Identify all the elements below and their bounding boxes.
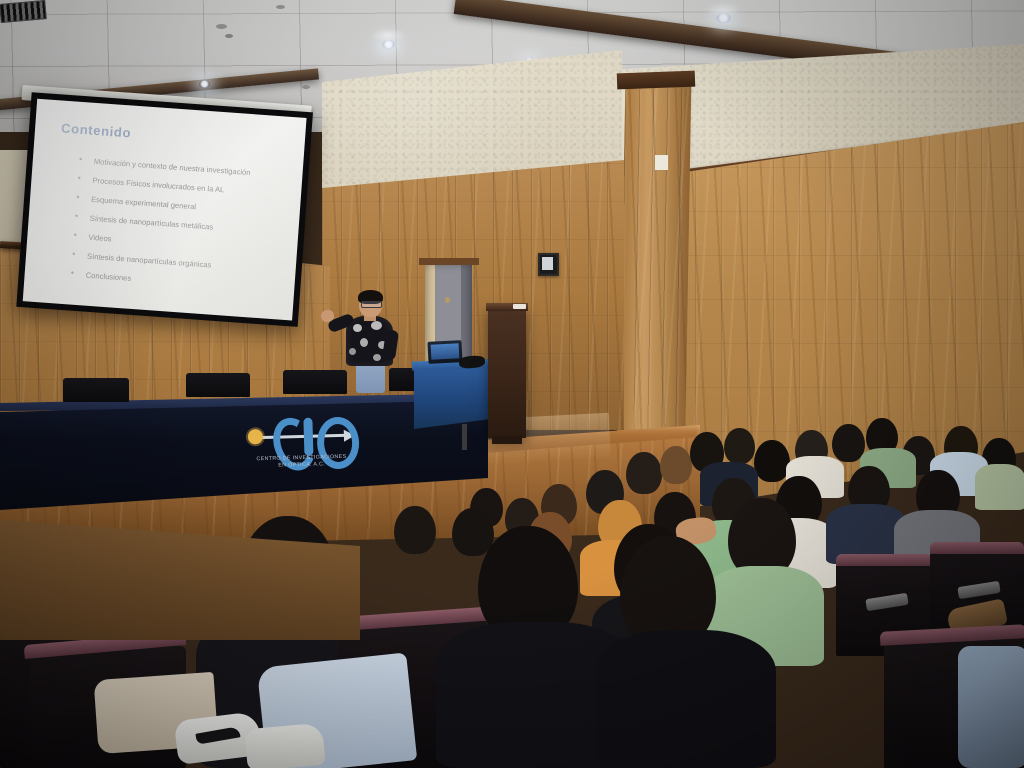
shirt-pattern xyxy=(371,321,382,330)
auditorium-photo: Contenido Motivación y contexto de nuest… xyxy=(0,0,1024,768)
audience-head xyxy=(724,428,755,464)
ceiling-vent xyxy=(0,0,47,23)
podium-column xyxy=(488,308,526,438)
audience-head xyxy=(660,446,692,484)
framed-wall-clock xyxy=(538,253,559,276)
audience-body xyxy=(975,464,1024,510)
logo-letter-i xyxy=(303,418,313,456)
column-capital xyxy=(617,71,696,90)
shirt-pattern xyxy=(349,348,356,355)
podium-marker-white xyxy=(513,304,526,309)
wall-speaker-small xyxy=(655,155,668,170)
spotlight-icon xyxy=(199,80,210,88)
ceiling-fixture-ring xyxy=(706,3,740,17)
shirt-pattern xyxy=(373,354,381,361)
shirt-pattern xyxy=(353,324,362,332)
seat-trim xyxy=(930,542,1024,554)
sneaker xyxy=(244,723,325,768)
slide: Contenido Motivación y contexto de nuest… xyxy=(23,99,307,321)
audience-head xyxy=(754,440,790,482)
ceiling-fixture-ring xyxy=(371,28,405,42)
presenter-arm-down xyxy=(382,329,399,361)
presenter xyxy=(316,286,412,398)
projector-screen-surface: Contenido Motivación y contexto de nuest… xyxy=(23,99,307,321)
logo-sun-icon xyxy=(248,429,263,444)
clock-face xyxy=(542,257,553,270)
door-frame xyxy=(419,258,479,265)
audience-legs-jeans xyxy=(958,646,1024,768)
ceiling-sprinkler-icon xyxy=(302,85,310,89)
laptop-screen xyxy=(431,343,460,359)
audience-head xyxy=(394,506,436,554)
audience-head xyxy=(626,452,662,494)
cio-logo: CENTRO DE INVESTIGACIONES EN ÓPTICA, A.C… xyxy=(245,407,357,472)
podium-base xyxy=(492,436,522,444)
glasses-icon xyxy=(361,301,382,308)
ceiling-sprinkler-icon xyxy=(225,34,233,38)
wood-column xyxy=(619,86,692,466)
projector-screen-frame: Contenido Motivación y contexto de nuest… xyxy=(16,92,313,327)
audience-body-front xyxy=(596,630,776,768)
stage-chair[interactable] xyxy=(186,373,250,397)
projection-glare xyxy=(23,99,307,321)
seat-trim xyxy=(836,554,932,566)
laptop[interactable] xyxy=(427,340,462,364)
ceiling-sprinkler-icon xyxy=(216,24,227,29)
door-handle-icon xyxy=(445,297,450,303)
wood-grain xyxy=(619,86,692,466)
stage-chair[interactable] xyxy=(63,378,129,402)
ceiling-sprinkler-icon xyxy=(276,5,285,9)
av-table-leg xyxy=(462,424,467,450)
shirt-pattern xyxy=(360,338,368,347)
